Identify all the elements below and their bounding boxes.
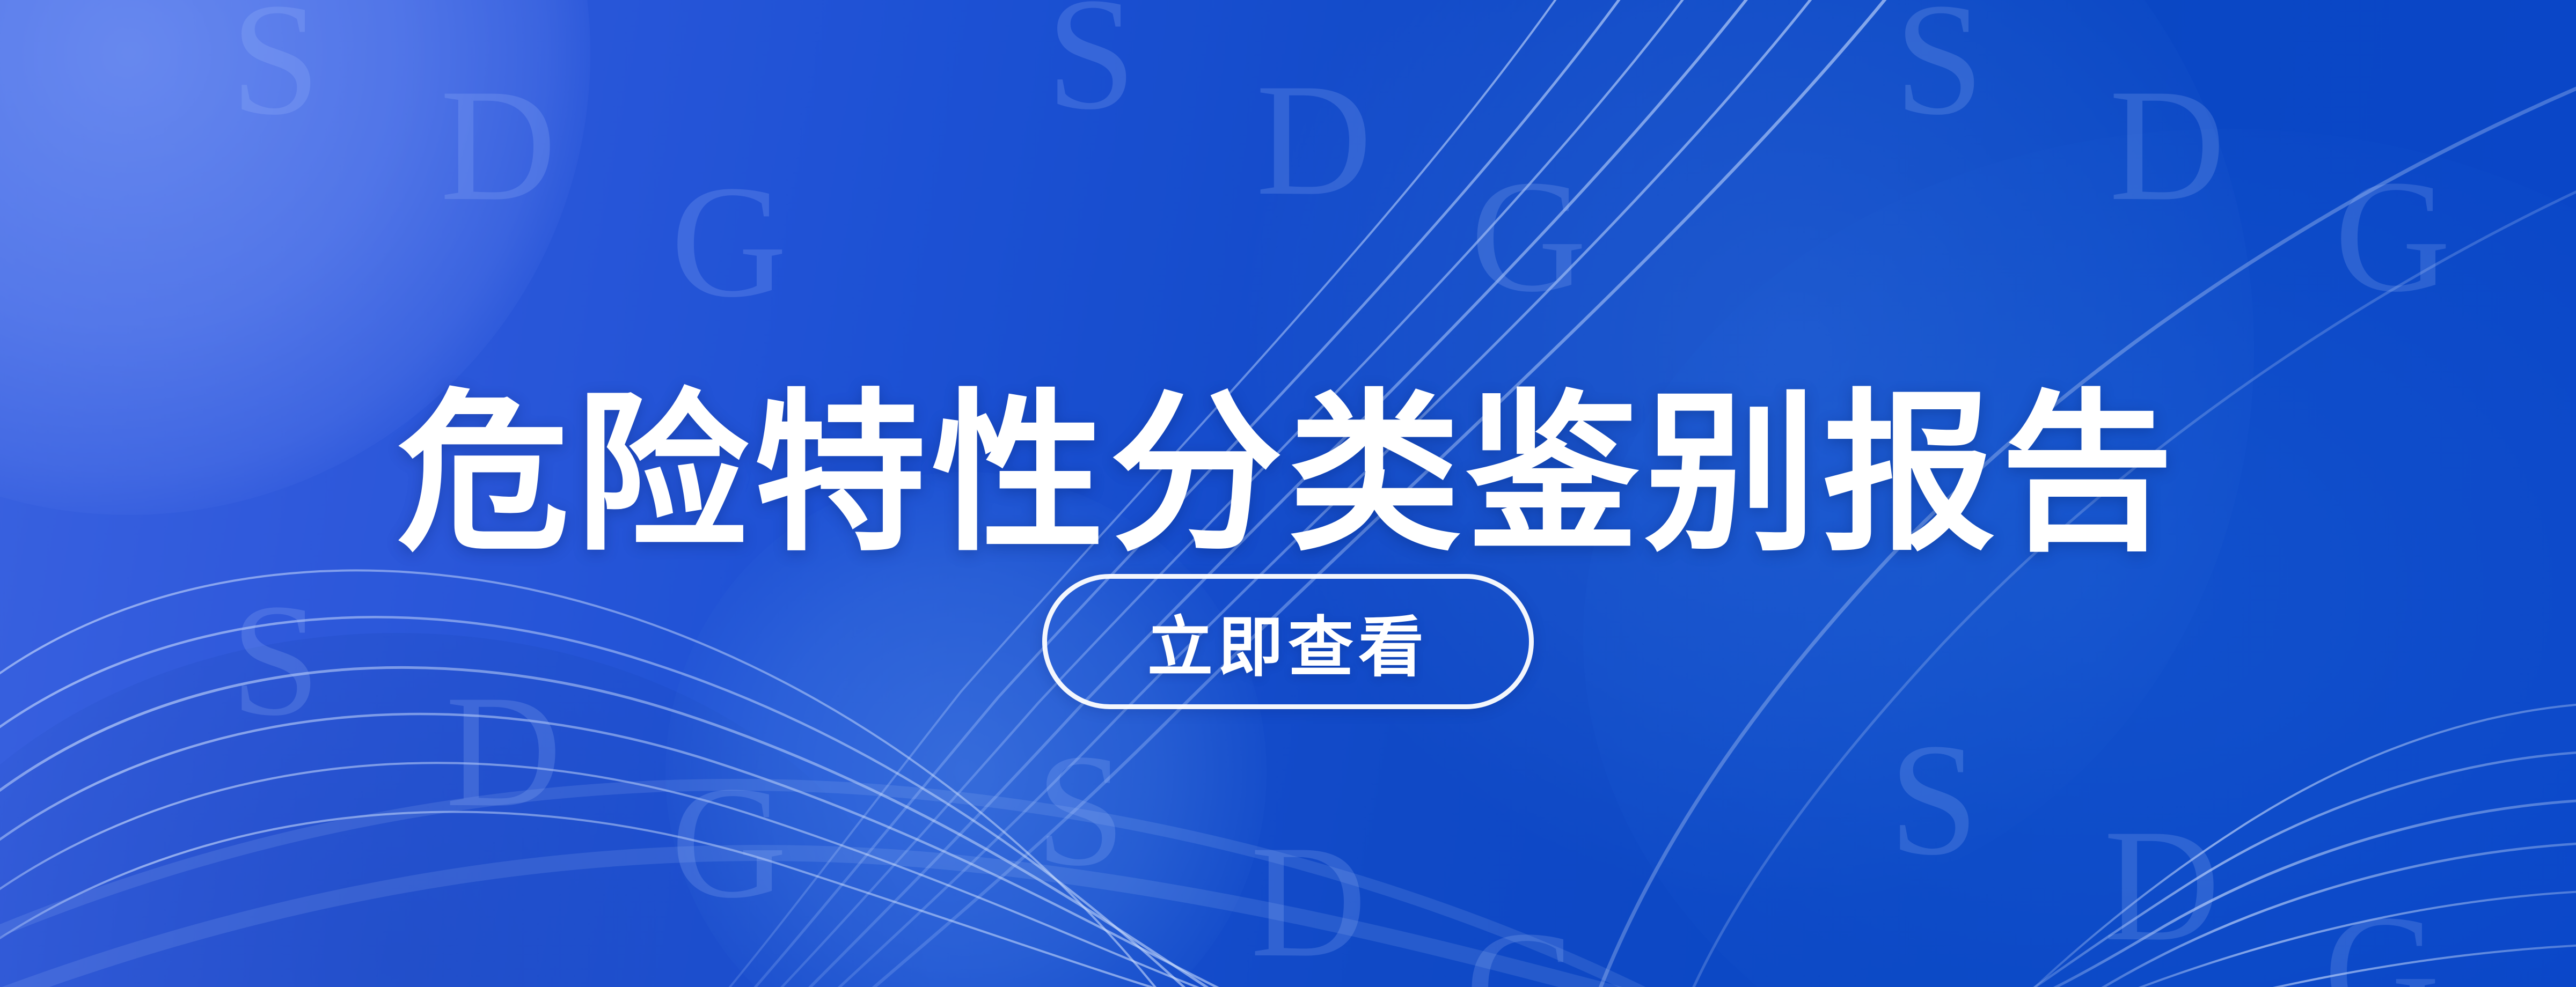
cta-container: 立即查看	[0, 574, 2576, 709]
view-now-button[interactable]: 立即查看	[1042, 574, 1534, 709]
banner-content: 危险特性分类鉴别报告 立即查看	[0, 0, 2576, 987]
promo-banner: SDGSDGSDGSDGSDGSDG 危险特性分类鉴别报告 立即查看	[0, 0, 2576, 987]
banner-title: 危险特性分类鉴别报告	[0, 383, 2576, 566]
